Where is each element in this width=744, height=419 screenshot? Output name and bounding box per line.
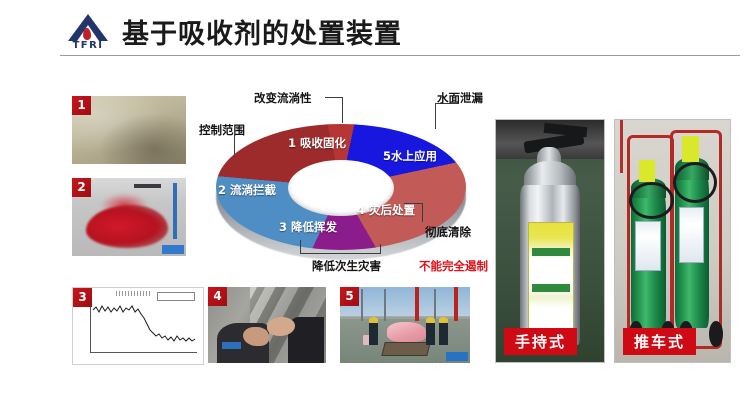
photo5-helmet-3	[439, 317, 448, 323]
leader-control-range-v	[234, 135, 235, 157]
callout-cannot-fully-contain: 不能完全遏制	[419, 258, 488, 274]
handheld-image	[496, 120, 604, 362]
donut-segment-label-1[interactable]: 1 吸收固化	[288, 135, 346, 151]
photo5-watermark	[446, 352, 468, 361]
callout-change-flow: 改变流淌性	[254, 90, 312, 106]
trolley-image	[615, 120, 730, 362]
trolley-tag-2	[682, 136, 699, 162]
absorbent-ground-photo[interactable]: 1	[72, 96, 186, 164]
handheld-label-band-2	[532, 284, 570, 291]
photo4-wristband	[222, 342, 241, 349]
trolley-cylinder-1	[631, 188, 666, 328]
photo3-series-curve	[73, 288, 203, 364]
photo2-railing	[173, 183, 177, 239]
process-donut-chart: 1 吸收固化 2 流淌拦截 3 降低挥发 4 灾后处置 5水上应用 改变流淌性 …	[196, 88, 484, 276]
trolley-extinguisher-photo[interactable]: 推车式	[614, 119, 731, 363]
photo4-badge: 4	[208, 287, 227, 306]
red-liquid-spill-photo[interactable]: 2	[72, 178, 186, 256]
trolley-wall-pipe	[620, 120, 623, 173]
leader-water-leak-v	[435, 103, 436, 129]
callout-reduce-secondary-disaster: 降低次生灾害	[312, 258, 381, 274]
volatility-line-graph-photo[interactable]: 3	[72, 287, 204, 365]
callout-control-range: 控制范围	[199, 122, 245, 138]
photo5-firefighter-2	[426, 322, 435, 345]
photo5-helmet-2	[426, 317, 435, 323]
photo1-badge: 1	[72, 96, 91, 115]
photo5-firefighter-1	[369, 322, 378, 345]
trolley-cylinder-2	[675, 168, 710, 328]
photo5-absorbent-sheet	[387, 322, 426, 342]
photo5-spill-tray	[381, 342, 431, 356]
photo2-watermark	[162, 245, 184, 254]
photo5-scaffold-1	[361, 289, 363, 321]
trolley-caption: 推车式	[623, 328, 696, 355]
slide-header: TFRI 基于吸收剂的处置装置	[0, 0, 744, 62]
photo2-beam	[134, 184, 161, 188]
photo5-badge: 5	[340, 287, 359, 306]
photo2-badge: 2	[72, 178, 91, 197]
donut-segment-label-5[interactable]: 5水上应用	[383, 148, 437, 164]
logo-wordmark: TFRI	[62, 40, 114, 51]
photo5-pipe-2	[454, 287, 458, 321]
leader-secondary-v2	[380, 244, 381, 254]
donut-segment-label-2[interactable]: 2 流淌拦截	[218, 182, 276, 198]
absorbent-sheet-handling-photo[interactable]: 4	[208, 287, 326, 363]
donut-segment-label-4[interactable]: 4 灾后处置	[357, 202, 415, 218]
leader-change-flow-v	[342, 97, 343, 123]
firefighter-field-test-photo[interactable]: 5	[340, 287, 470, 363]
callout-complete-removal: 彻底清除	[425, 224, 471, 240]
photo3-image	[73, 288, 203, 364]
handheld-extinguisher-photo[interactable]: 手持式	[495, 119, 605, 363]
leader-secondary-h	[300, 253, 380, 254]
tfri-logo: TFRI	[62, 14, 114, 52]
leader-removal-v	[422, 203, 423, 222]
trolley-product-label-2	[679, 207, 704, 263]
leader-change-flow-h	[325, 97, 343, 98]
photo5-scaffold-2	[384, 289, 386, 321]
photo5-scaffold-3	[434, 289, 436, 321]
handheld-caption: 手持式	[504, 328, 577, 355]
photo5-helmet-1	[369, 317, 378, 323]
slide-canvas: TFRI 基于吸收剂的处置装置 1 2 3	[0, 0, 744, 419]
photo3-badge: 3	[73, 288, 92, 307]
photo5-firefighter-3	[439, 322, 448, 345]
title-divider	[60, 55, 740, 56]
callout-water-surface-leak: 水面泄漏	[437, 90, 483, 106]
trolley-hose-coil-1	[629, 182, 674, 219]
handheld-product-label	[528, 222, 573, 330]
trolley-tag-1	[639, 160, 656, 182]
leader-secondary-v	[300, 240, 301, 254]
photo4-hand-left	[243, 327, 269, 347]
photo5-pipe-1	[415, 287, 419, 321]
trolley-product-label-1	[635, 221, 660, 271]
donut-segment-label-3[interactable]: 3 降低挥发	[279, 219, 337, 235]
photo2-spill	[86, 205, 168, 249]
handheld-label-band-1	[532, 248, 570, 255]
page-title: 基于吸收剂的处置装置	[122, 12, 402, 51]
